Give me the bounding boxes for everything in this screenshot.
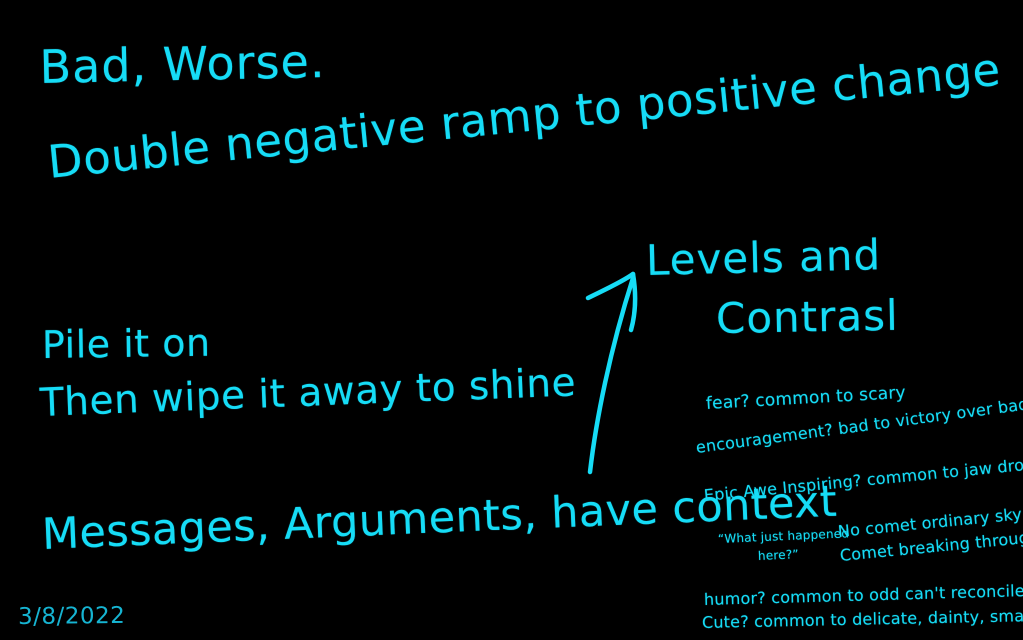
note-humor: humor? common to odd can't reconcile eas… bbox=[704, 582, 1023, 608]
whiteboard-canvas[interactable]: Bad, Worse. Double negative ramp to posi… bbox=[0, 0, 1023, 640]
callout-levels-and: Levels and bbox=[645, 234, 881, 282]
note-cute: Cute? common to delicate, dainty, small,… bbox=[702, 606, 1023, 631]
note-epic-awe: Epic Awe Inspiring? common to jaw droppi… bbox=[703, 453, 1023, 504]
heading-then-wipe-away: Then wipe it away to shine bbox=[39, 363, 576, 423]
heading-bad-worse: Bad, Worse. bbox=[39, 38, 326, 90]
date-stamp: 3/8/2022 bbox=[18, 605, 126, 629]
note-quote-line-2: here?” bbox=[758, 548, 799, 562]
callout-contrasl: Contrasl bbox=[716, 295, 899, 340]
note-fear: fear? common to scary bbox=[706, 385, 907, 413]
heading-pile-it-on: Pile it on bbox=[42, 324, 211, 364]
